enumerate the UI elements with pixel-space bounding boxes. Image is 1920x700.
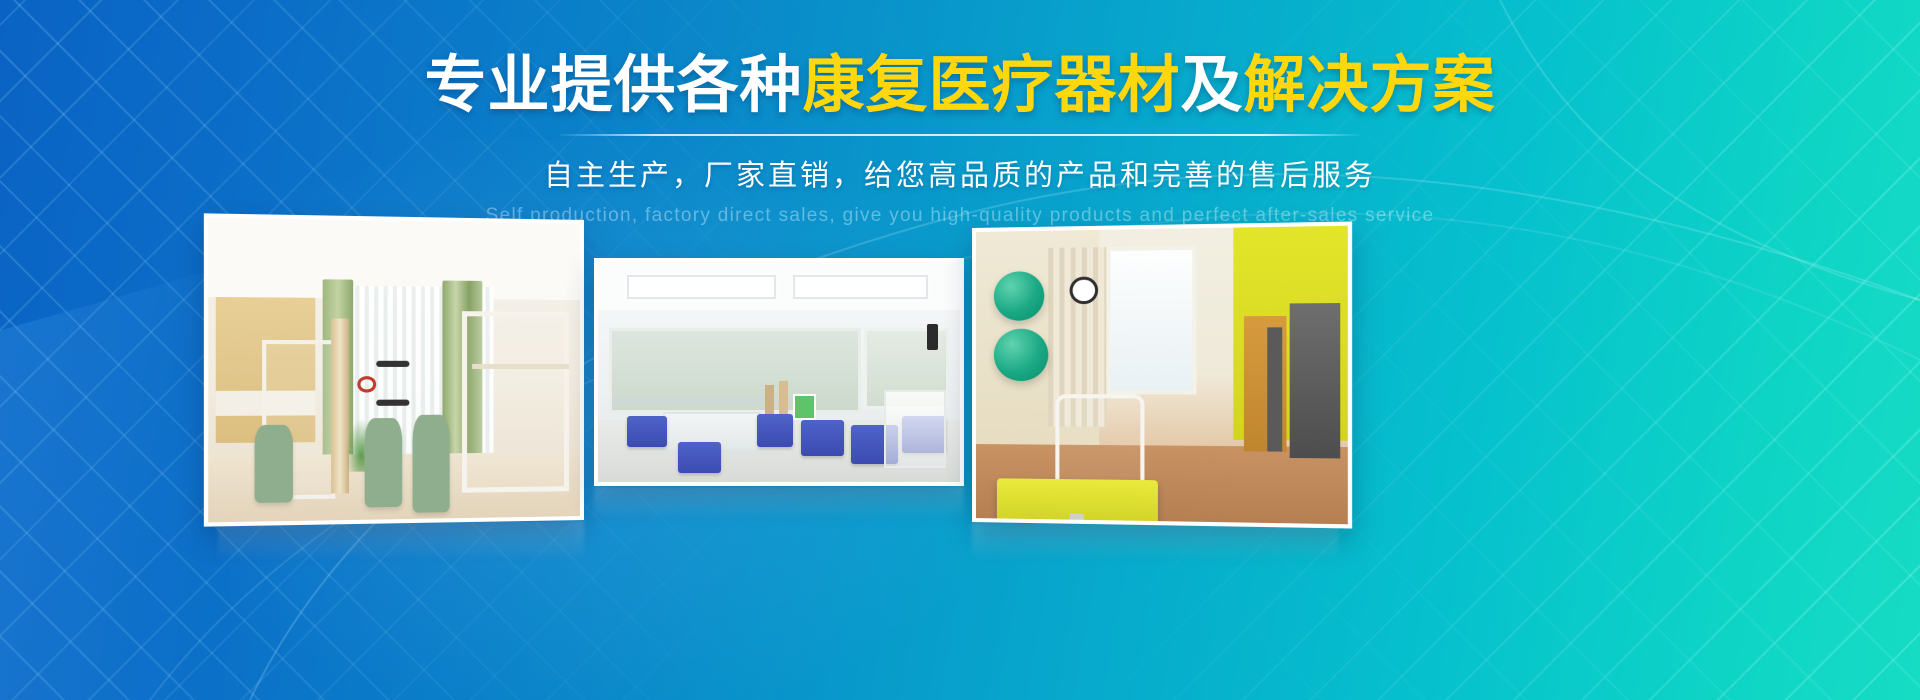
photo-center-reflection [594, 486, 964, 532]
photo-right-reflection [972, 522, 1338, 576]
promo-banner: 专业提供各种康复医疗器材及解决方案 自主生产，厂家直销，给您高品质的产品和完善的… [0, 0, 1920, 700]
headline-block: 专业提供各种康复医疗器材及解决方案 自主生产，厂家直销，给您高品质的产品和完善的… [0, 52, 1920, 227]
headline-segment-1: 专业提供各种 [424, 48, 802, 121]
headline-segment-4: 解决方案 [1244, 48, 1496, 121]
page-title: 专业提供各种康复医疗器材及解决方案 [0, 52, 1920, 118]
headline-divider [560, 134, 1360, 136]
photo-left-reflection [218, 520, 584, 576]
headline-segment-2: 康复医疗器材 [802, 48, 1180, 121]
photo-left[interactable] [204, 213, 584, 526]
subtitle-chinese: 自主生产，厂家直销，给您高品质的产品和完善的售后服务 [0, 152, 1920, 194]
photo-right[interactable] [972, 221, 1352, 528]
photo-right-scene [976, 226, 1348, 525]
photo-center-scene [598, 262, 960, 482]
headline-segment-3: 及 [1181, 48, 1244, 121]
photo-left-scene [208, 218, 580, 523]
photo-center[interactable] [594, 258, 964, 486]
